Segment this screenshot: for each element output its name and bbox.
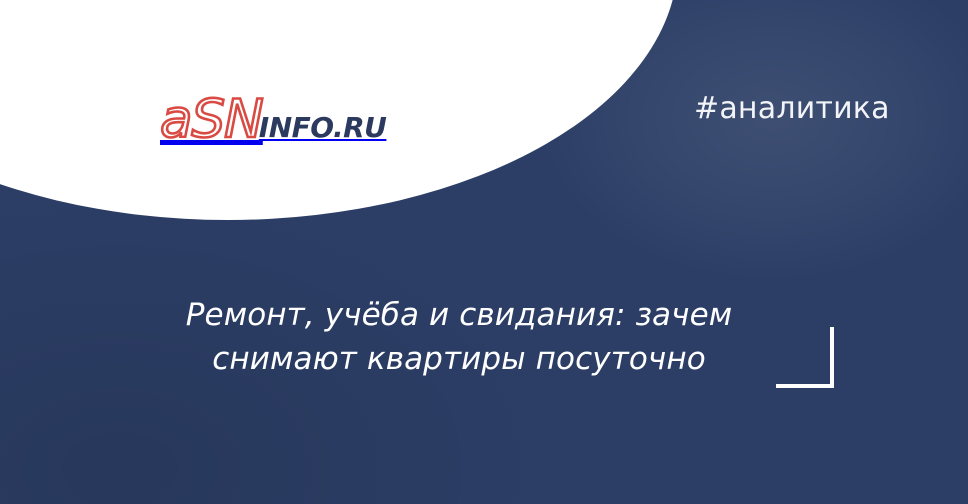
article-cover-banner: aSN INFO.RU #аналитика Ремонт, учёба и с… bbox=[0, 0, 968, 504]
corner-bracket-vertical-bar bbox=[830, 327, 834, 388]
corner-bracket-decoration bbox=[776, 327, 834, 388]
page-title-line-1: Ремонт, учёба и свидания: зачем bbox=[64, 293, 854, 337]
site-logo[interactable]: aSN INFO.RU bbox=[160, 93, 386, 146]
page-title-line-2: снимают квартиры посуточно bbox=[64, 337, 854, 381]
corner-bracket-horizontal-bar bbox=[776, 384, 834, 388]
hashtag-analytics[interactable]: #аналитика bbox=[694, 92, 890, 126]
logo-mark-text: aSN bbox=[160, 93, 263, 146]
page-title: Ремонт, учёба и свидания: зачем снимают … bbox=[64, 293, 854, 381]
logo-suffix-text: INFO.RU bbox=[259, 114, 387, 142]
